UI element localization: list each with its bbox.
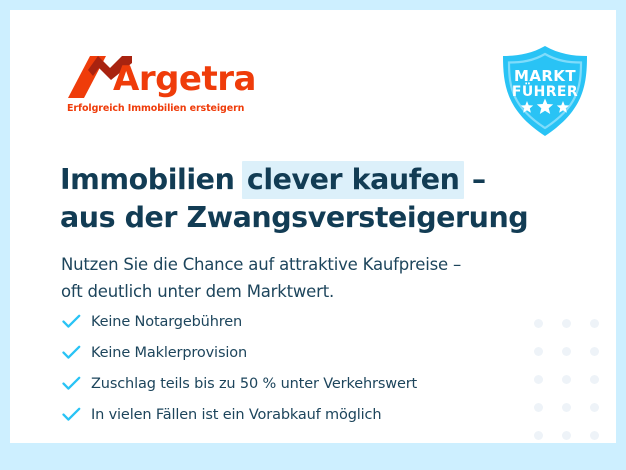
check-icon <box>62 314 91 329</box>
dot-grid-decoration <box>525 310 616 443</box>
dot <box>534 347 543 356</box>
dot <box>562 375 571 384</box>
list-item-label: Zuschlag teils bis zu 50 % unter Verkehr… <box>91 376 417 392</box>
dot <box>590 319 599 328</box>
dot <box>590 347 599 356</box>
dot <box>534 319 543 328</box>
dot <box>590 403 599 412</box>
dot <box>562 347 571 356</box>
page-title: Immobilien clever kaufen – aus der Zwang… <box>60 161 580 237</box>
list-item: Keine Notargebühren <box>62 306 532 337</box>
dot <box>534 403 543 412</box>
subheadline-line-2: oft deutlich unter dem Marktwert. <box>61 278 561 305</box>
headline-line-2: aus der Zwangsversteigerung <box>60 199 580 237</box>
banner-card: Argetra Erfolgreich Immobilien ersteiger… <box>10 10 616 443</box>
list-item-label: Keine Notargebühren <box>91 314 242 330</box>
list-item: Keine Maklerprovision <box>62 337 532 368</box>
subheadline-line-1: Nutzen Sie die Chance auf attraktive Kau… <box>61 251 561 278</box>
headline-part-before: Immobilien <box>60 163 244 196</box>
headline-part-after: – <box>462 163 485 196</box>
badge-stars <box>497 98 593 121</box>
logo-wordmark: Argetra <box>113 59 256 99</box>
logo-tagline: Erfolgreich Immobilien ersteigern <box>67 103 244 114</box>
check-icon <box>62 345 91 360</box>
promo-banner: Argetra Erfolgreich Immobilien ersteiger… <box>0 0 626 470</box>
badge-line-1: MARKT <box>497 67 593 85</box>
subheadline: Nutzen Sie die Chance auf attraktive Kau… <box>61 251 561 305</box>
dot <box>562 319 571 328</box>
dot <box>534 375 543 384</box>
check-icon <box>62 407 91 422</box>
logo-row: Argetra <box>66 54 266 100</box>
market-leader-badge: MARKT FÜHRER <box>497 43 593 139</box>
headline-highlight: clever kaufen <box>242 161 465 199</box>
check-icon <box>62 376 91 391</box>
dot <box>562 403 571 412</box>
dot <box>590 431 599 440</box>
dot <box>534 431 543 440</box>
list-item-label: Keine Maklerprovision <box>91 345 247 361</box>
argetra-logo[interactable]: Argetra Erfolgreich Immobilien ersteiger… <box>66 54 266 118</box>
list-item-label: In vielen Fällen ist ein Vorabkauf mögli… <box>91 407 381 423</box>
list-item: In vielen Fällen ist ein Vorabkauf mögli… <box>62 399 532 430</box>
dot <box>562 431 571 440</box>
list-item: Zuschlag teils bis zu 50 % unter Verkehr… <box>62 368 532 399</box>
dot <box>590 375 599 384</box>
benefits-list: Keine Notargebühren Keine Maklerprovisio… <box>62 306 532 430</box>
